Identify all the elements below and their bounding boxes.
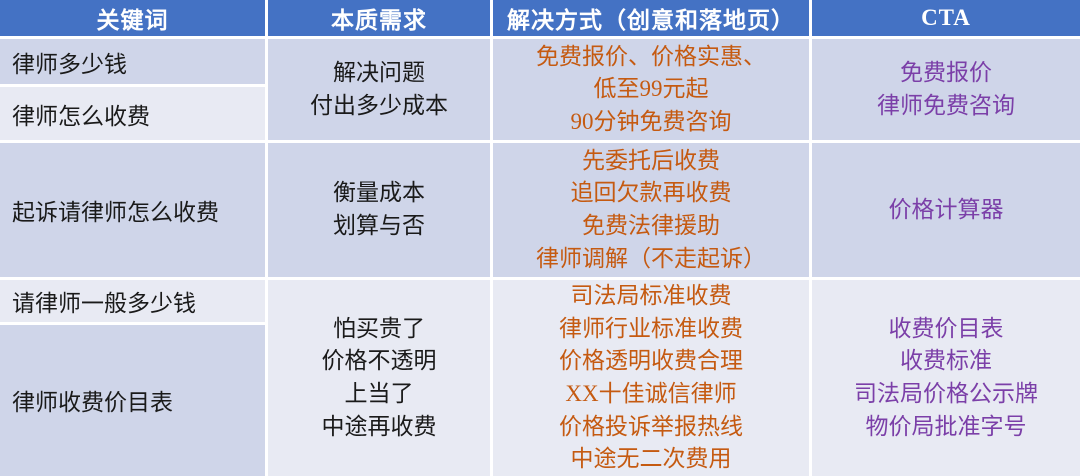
solution-line: 中途无二次费用 — [493, 443, 809, 476]
need-line: 解决问题 — [268, 57, 490, 90]
table-body: 律师多少钱 律师怎么收费 解决问题 付出多少成本 免费报价、价格实惠、 低至99… — [0, 39, 1080, 476]
cta-line: 收费标准 — [812, 345, 1080, 378]
keyword-strategy-table: 关键词 本质需求 解决方式（创意和落地页） CTA 律师多少钱 律师怎么收费 解… — [0, 0, 1080, 476]
column-header-cta: CTA — [812, 0, 1080, 39]
keyword-item: 请律师一般多少钱 — [0, 280, 265, 325]
keyword-subrow: 律师怎么收费 — [0, 87, 265, 140]
column-header-solution: 解决方式（创意和落地页） — [493, 0, 812, 39]
solution-line: 律师调解（不走起诉） — [493, 243, 809, 276]
keyword-sublist: 律师多少钱 律师怎么收费 — [0, 39, 265, 140]
need-line: 价格不透明 — [268, 345, 490, 378]
keyword-item: 起诉请律师怎么收费 — [12, 200, 219, 225]
need-line: 上当了 — [268, 378, 490, 411]
solution-line: XX十佳诚信律师 — [493, 378, 809, 411]
keyword-item: 律师怎么收费 — [0, 87, 265, 140]
keyword-subrow: 律师多少钱 — [0, 39, 265, 87]
need-cell: 怕买贵了 价格不透明 上当了 中途再收费 — [268, 280, 493, 476]
solution-line: 司法局标准收费 — [493, 280, 809, 313]
keyword-cell: 请律师一般多少钱 律师收费价目表 — [0, 280, 268, 476]
cta-line: 价格计算器 — [812, 194, 1080, 227]
solution-line: 免费法律援助 — [493, 210, 809, 243]
need-cell: 衡量成本 划算与否 — [268, 143, 493, 280]
solution-line: 免费报价、价格实惠、 — [493, 41, 809, 74]
solution-line: 价格透明收费合理 — [493, 345, 809, 378]
keyword-cell: 律师多少钱 律师怎么收费 — [0, 39, 268, 143]
solution-cell: 免费报价、价格实惠、 低至99元起 90分钟免费咨询 — [493, 39, 812, 143]
solution-cell: 司法局标准收费 律师行业标准收费 价格透明收费合理 XX十佳诚信律师 价格投诉举… — [493, 280, 812, 476]
cta-line: 收费价目表 — [812, 313, 1080, 346]
cta-line: 司法局价格公示牌 — [812, 378, 1080, 411]
table-header: 关键词 本质需求 解决方式（创意和落地页） CTA — [0, 0, 1080, 39]
keyword-item: 律师收费价目表 — [0, 325, 265, 476]
keyword-subrow: 请律师一般多少钱 — [0, 280, 265, 325]
keyword-sublist: 请律师一般多少钱 律师收费价目表 — [0, 280, 265, 476]
cta-cell: 价格计算器 — [812, 143, 1080, 280]
table-row: 起诉请律师怎么收费 衡量成本 划算与否 先委托后收费 追回欠款再收费 免费法律援… — [0, 143, 1080, 280]
column-header-keyword: 关键词 — [0, 0, 268, 39]
keyword-subrow: 律师收费价目表 — [0, 325, 265, 476]
cta-cell: 收费价目表 收费标准 司法局价格公示牌 物价局批准字号 — [812, 280, 1080, 476]
table-row: 请律师一般多少钱 律师收费价目表 怕买贵了 价格不透明 上当了 中途再收费 司法… — [0, 280, 1080, 476]
keyword-item: 律师多少钱 — [0, 39, 265, 87]
column-header-need: 本质需求 — [268, 0, 493, 39]
solution-line: 先委托后收费 — [493, 145, 809, 178]
cta-line: 物价局批准字号 — [812, 411, 1080, 444]
need-line: 付出多少成本 — [268, 90, 490, 123]
need-line: 划算与否 — [268, 210, 490, 243]
need-line: 衡量成本 — [268, 177, 490, 210]
solution-line: 90分钟免费咨询 — [493, 106, 809, 139]
need-line: 中途再收费 — [268, 411, 490, 444]
cta-cell: 免费报价 律师免费咨询 — [812, 39, 1080, 143]
keyword-cell: 起诉请律师怎么收费 — [0, 143, 268, 280]
need-cell: 解决问题 付出多少成本 — [268, 39, 493, 143]
table-row: 律师多少钱 律师怎么收费 解决问题 付出多少成本 免费报价、价格实惠、 低至99… — [0, 39, 1080, 143]
need-line: 怕买贵了 — [268, 313, 490, 346]
cta-line: 律师免费咨询 — [812, 90, 1080, 123]
solution-line: 追回欠款再收费 — [493, 177, 809, 210]
solution-cell: 先委托后收费 追回欠款再收费 免费法律援助 律师调解（不走起诉） — [493, 143, 812, 280]
header-row: 关键词 本质需求 解决方式（创意和落地页） CTA — [0, 0, 1080, 39]
solution-line: 价格投诉举报热线 — [493, 411, 809, 444]
cta-line: 免费报价 — [812, 57, 1080, 90]
solution-line: 律师行业标准收费 — [493, 313, 809, 346]
solution-line: 低至99元起 — [493, 73, 809, 106]
